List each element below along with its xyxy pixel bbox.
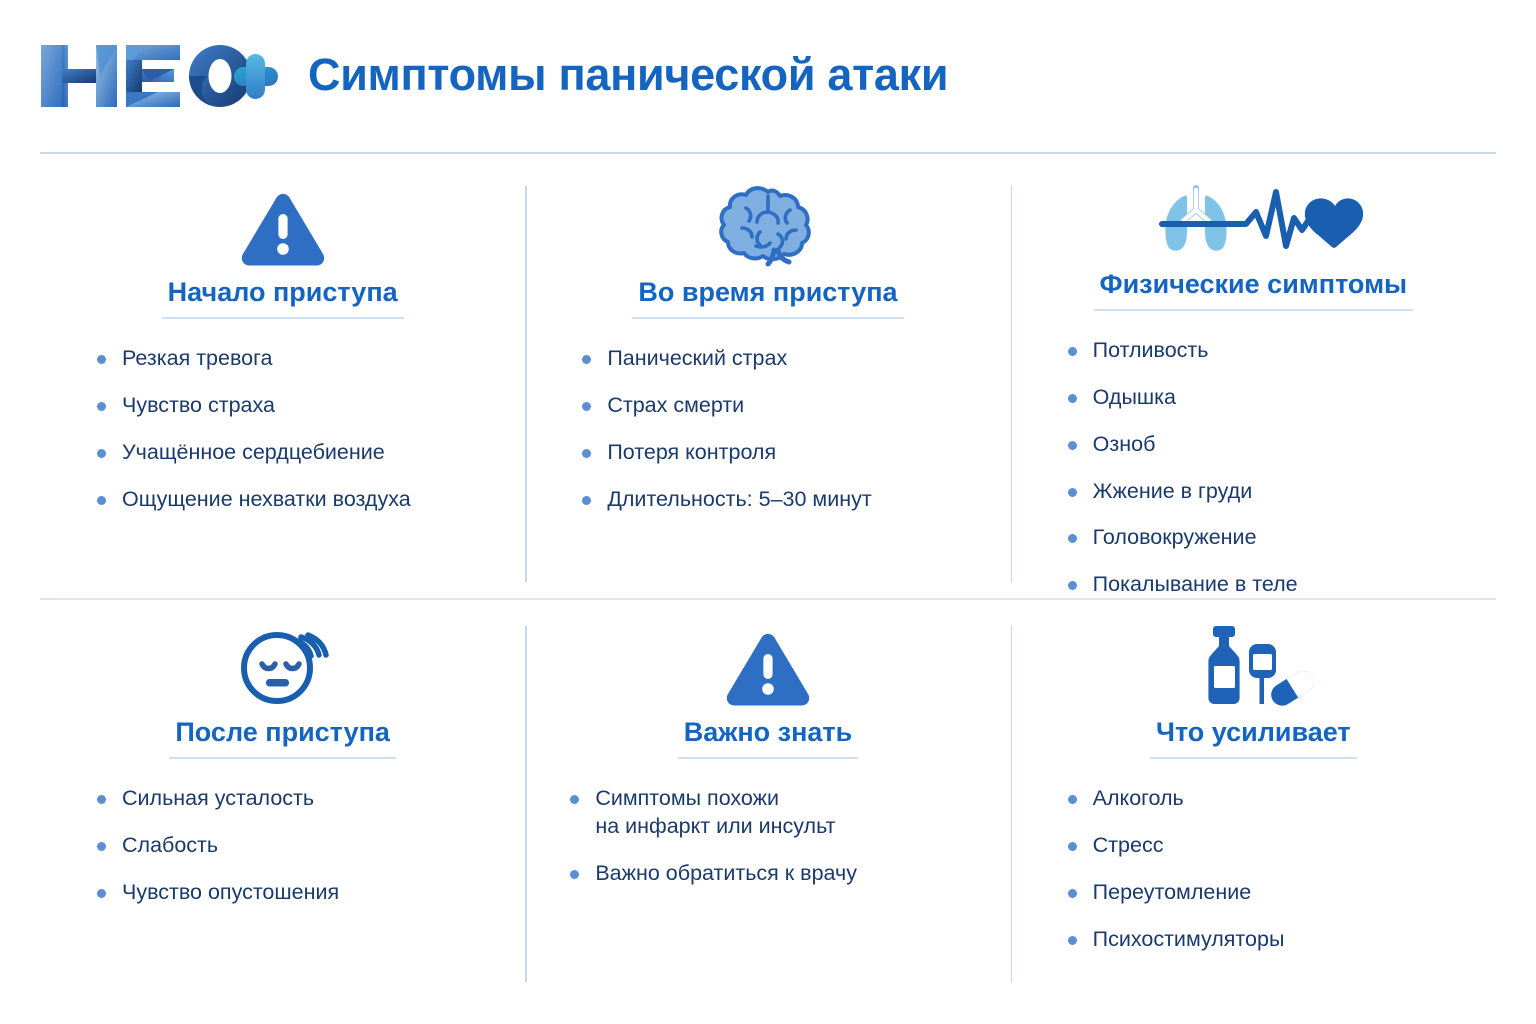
cards-row-top: Начало приступа Резкая тревога Чувство с… xyxy=(40,158,1496,598)
list-item: Учащённое сердцебиение xyxy=(96,439,503,467)
header-divider xyxy=(40,152,1496,154)
list-item: Головокружение xyxy=(1067,524,1474,552)
list-item: Психостимуляторы xyxy=(1067,926,1474,954)
list-item: Чувство опустошения xyxy=(96,879,503,907)
card-heading: Во время приступа xyxy=(632,278,903,319)
list-item: Стресс xyxy=(1067,832,1474,860)
list-item: Симптомы похожи на инфаркт или инсульт xyxy=(569,785,988,841)
card-nachalo-pristupa: Начало приступа Резкая тревога Чувство с… xyxy=(40,158,525,598)
list-item: Резкая тревога xyxy=(96,345,503,373)
warning-triangle-icon xyxy=(725,624,811,708)
list-item: Переутомление xyxy=(1067,879,1474,907)
symptom-list: Резкая тревога Чувство страха Учащённое … xyxy=(62,345,503,533)
brain-icon xyxy=(716,184,820,268)
card-fizicheskie-simptomy: Физические симптомы Потливость Одышка Оз… xyxy=(1011,158,1496,598)
list-item: Озноб xyxy=(1067,431,1474,459)
list-item: Панический страх xyxy=(581,345,988,373)
poster-header: Симптомы панической атаки xyxy=(0,0,1536,152)
card-chto-usilivaet: Что усиливает Алкоголь Стресс Переутомле… xyxy=(1011,598,1496,998)
list-item: Сильная усталость xyxy=(96,785,503,813)
warning-triangle-icon xyxy=(240,184,326,268)
card-heading: Начало приступа xyxy=(162,278,404,319)
list-item: Одышка xyxy=(1067,384,1474,412)
card-heading: Физические симптомы xyxy=(1094,270,1414,311)
symptom-list: Симптомы похожи на инфаркт или инсульт В… xyxy=(547,785,988,907)
list-item: Длительность: 5–30 минут xyxy=(581,486,988,514)
cards-grid: Начало приступа Резкая тревога Чувство с… xyxy=(40,158,1496,998)
card-heading: Важно знать xyxy=(678,718,859,759)
list-item: Страх смерти xyxy=(581,392,988,420)
list-item: Чувство страха xyxy=(96,392,503,420)
list-item: Алкоголь xyxy=(1067,785,1474,813)
card-heading: После приступа xyxy=(169,718,396,759)
list-item: Жжение в груди xyxy=(1067,478,1474,506)
card-vazhno-znat: Важно знать Симптомы похожи на инфаркт и… xyxy=(525,598,1010,998)
list-item: Потливость xyxy=(1067,337,1474,365)
bottle-pills-icon xyxy=(1191,624,1315,708)
symptom-list: Панический страх Страх смерти Потеря кон… xyxy=(547,345,988,533)
neo-plus-logo xyxy=(38,39,280,113)
lungs-heartbeat-heart-icon xyxy=(1134,184,1372,260)
infographic-poster: Симптомы панической атаки Начало приступ… xyxy=(0,0,1536,1024)
list-item: Слабость xyxy=(96,832,503,860)
card-posle-pristupa: После приступа Сильная усталость Слабост… xyxy=(40,598,525,998)
list-item: Потеря контроля xyxy=(581,439,988,467)
cards-row-bottom: После приступа Сильная усталость Слабост… xyxy=(40,598,1496,998)
card-vo-vremya-pristupa: Во время приступа Панический страх Страх… xyxy=(525,158,1010,598)
symptom-list: Потливость Одышка Озноб Жжение в груди Г… xyxy=(1033,337,1474,619)
card-heading: Что усиливает xyxy=(1150,718,1357,759)
list-item: Важно обратиться к врачу xyxy=(569,860,988,888)
list-item: Ощущение нехватки воздуха xyxy=(96,486,503,514)
page-title: Симптомы панической атаки xyxy=(308,52,948,101)
symptom-list: Алкоголь Стресс Переутомление Психостиму… xyxy=(1033,785,1474,973)
symptom-list: Сильная усталость Слабость Чувство опуст… xyxy=(62,785,503,926)
list-item: Покалывание в теле xyxy=(1067,571,1474,599)
tired-face-icon xyxy=(235,624,331,708)
